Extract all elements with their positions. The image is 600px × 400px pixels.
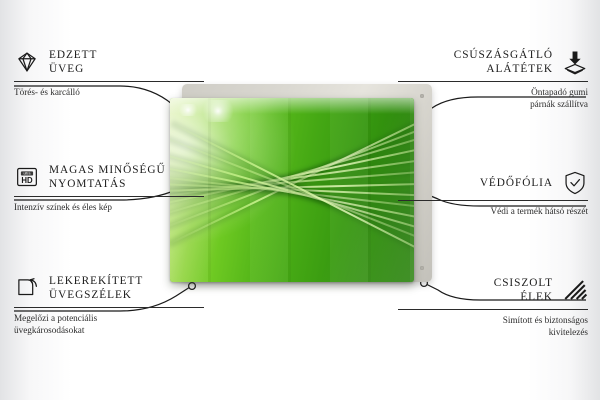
feature-subtitle-2: párnák szállítva	[398, 98, 588, 110]
feature-edzett-uveg[interactable]: EDZETT ÜVEG Törés- és karcálló	[14, 48, 204, 98]
feature-subtitle: Öntapadó gumi	[398, 86, 588, 98]
divider	[14, 307, 204, 308]
feature-title-2: NYOMTATÁS	[49, 177, 166, 191]
divider	[398, 309, 588, 310]
divider	[14, 81, 204, 82]
feature-title: CSISZOLT	[494, 276, 553, 290]
leaf-photo	[170, 98, 414, 282]
highlight-glint	[176, 104, 200, 116]
product-image	[170, 84, 432, 282]
diamond-icon	[14, 49, 40, 75]
divider	[14, 196, 204, 197]
feature-vedofolia[interactable]: VÉDŐFÓLIA Védi a termék hátsó részét	[398, 170, 588, 217]
feature-title-2: ÜVEG	[49, 62, 97, 76]
feature-subtitle: Törés- és karcálló	[14, 86, 204, 98]
feature-subtitle: Simított és biztonságos	[398, 314, 588, 326]
svg-text:ultra: ultra	[24, 172, 31, 176]
feature-title: VÉDŐFÓLIA	[480, 176, 553, 190]
divider	[398, 81, 588, 82]
feature-title-2: ALÁTÉTEK	[454, 62, 553, 76]
feature-lekerekitett-uvegszelek[interactable]: LEKEREKÍTETT ÜVEGSZÉLEK Megelőzi a poten…	[14, 274, 204, 337]
svg-text:HD: HD	[21, 177, 33, 186]
feature-magas-minosegu-nyomtatas[interactable]: ultra HD MAGAS MINŐSÉGŰ NYOMTATÁS Intenz…	[14, 163, 204, 213]
anti-slip-pad-icon	[562, 49, 588, 75]
highlight-glint	[198, 100, 238, 122]
feature-title-2: ÉLEK	[494, 290, 553, 304]
feature-subtitle: Megelőzi a potenciális	[14, 312, 204, 324]
feature-subtitle-2: kivitelezés	[398, 326, 588, 338]
feature-title: EDZETT	[49, 48, 97, 62]
feature-title-2: ÜVEGSZÉLEK	[49, 288, 143, 302]
feature-csiszolt-elek[interactable]: CSISZOLT ÉLEK Simított és biztonságos ki…	[398, 276, 588, 339]
feature-subtitle: Védi a termék hátsó részét	[398, 205, 588, 217]
shield-check-icon	[562, 170, 588, 196]
feature-subtitle-2: üvegkárosodásokat	[14, 324, 204, 336]
infographic-canvas: EDZETT ÜVEG Törés- és karcálló ultra HD …	[0, 0, 600, 400]
feature-title: CSÚSZÁSGÁTLÓ	[454, 48, 553, 62]
divider	[398, 200, 588, 201]
feature-title: LEKEREKÍTETT	[49, 274, 143, 288]
polished-edge-icon	[562, 277, 588, 303]
feature-csuszasgatlo-alatetek[interactable]: CSÚSZÁSGÁTLÓ ALÁTÉTEK Öntapadó gumi párn…	[398, 48, 588, 111]
ultra-hd-icon: ultra HD	[14, 164, 40, 190]
print-banding	[170, 98, 414, 282]
anti-slip-pad	[420, 266, 424, 270]
feature-subtitle: Intenzív színek és éles kép	[14, 201, 204, 213]
rounded-corner-icon	[14, 275, 40, 301]
tempered-glass-panel	[170, 98, 414, 282]
feature-title: MAGAS MINŐSÉGŰ	[49, 163, 166, 177]
